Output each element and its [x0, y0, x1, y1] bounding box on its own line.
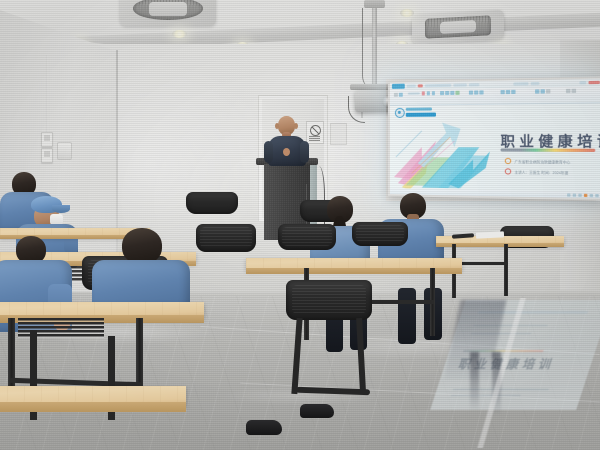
cap-brim	[52, 205, 70, 213]
desk-leg	[504, 244, 508, 296]
bullets-icon[interactable]	[450, 91, 454, 95]
reading-view-icon[interactable]	[578, 193, 581, 196]
tab-review[interactable]	[469, 83, 479, 86]
chair-mesh	[292, 285, 366, 314]
ribbon-group-cloud[interactable]	[535, 89, 550, 93]
chair-mesh	[356, 225, 404, 242]
no-smoking-sign	[306, 121, 324, 144]
sorter-view-icon[interactable]	[573, 193, 576, 196]
cloud-save-icon[interactable]	[535, 89, 539, 93]
projector-cable	[362, 8, 379, 90]
attendee-head	[122, 228, 162, 264]
wall-conduit	[46, 55, 48, 133]
chair-back-far-right	[352, 222, 408, 246]
tab-view[interactable]	[513, 82, 528, 85]
ribbon-group-right[interactable]	[566, 89, 576, 93]
tab-design[interactable]	[425, 84, 451, 88]
shoe	[246, 420, 282, 435]
ribbon-group-shapes[interactable]	[469, 90, 483, 94]
bullet-dot-icon	[505, 168, 511, 174]
projected-slide: 职业健康培训 广东省职业病防治院健康教育中心 主讲人：王医生 时间：2024年度	[390, 79, 600, 199]
cut-icon[interactable]	[399, 93, 402, 97]
chair-backrest	[186, 192, 238, 214]
chair-mesh	[282, 227, 332, 246]
slide-subtitle-line-2: 主讲人：王医生 时间：2024年度	[505, 168, 569, 175]
replace-icon[interactable]	[506, 90, 510, 94]
paste-icon[interactable]	[394, 93, 397, 97]
arrow-chart-svg	[392, 116, 498, 191]
bold-icon[interactable]	[426, 91, 430, 95]
normal-view-icon[interactable]	[567, 193, 570, 196]
desk-front-left	[0, 302, 204, 318]
bullet-dot-icon	[505, 158, 511, 164]
ribbon-group-clipboard[interactable]	[394, 93, 402, 97]
presenter-ear	[275, 123, 279, 129]
chair-back-right	[278, 224, 336, 250]
downlight	[172, 30, 187, 38]
downlight	[400, 9, 414, 17]
zoom-in-icon[interactable]	[595, 193, 598, 196]
align-left-icon[interactable]	[440, 91, 444, 95]
slide-arrow-graphic	[392, 116, 498, 191]
cassette-ac-right	[412, 10, 504, 45]
numbering-icon[interactable]	[455, 91, 459, 95]
arrange-icon[interactable]	[474, 90, 478, 94]
ac-inner-panel	[149, 2, 187, 16]
training-room-photo: 职业健康培训 广东省职业病防治院健康教育中心 主讲人：王医生 时间：2024年度	[0, 0, 600, 450]
desk-nearest	[0, 386, 186, 406]
font-name-box[interactable]	[408, 92, 420, 94]
tab-tools[interactable]	[531, 82, 540, 85]
slide-title-divider	[501, 148, 596, 151]
shape-icon[interactable]	[469, 91, 473, 95]
chair-backrest	[278, 224, 336, 250]
notice-plate	[330, 123, 347, 145]
ribbon-group-font[interactable]	[408, 91, 435, 95]
presenter-arm-right	[300, 141, 309, 163]
italic-icon[interactable]	[431, 91, 435, 95]
shoe	[300, 404, 334, 418]
tab-badge	[418, 84, 423, 87]
font-color-icon[interactable]	[421, 91, 425, 95]
projector-ceiling-plate	[364, 0, 385, 8]
light-switch-panel[interactable]	[41, 148, 53, 163]
presenter-hand	[283, 148, 290, 156]
desk-edge	[0, 402, 186, 412]
light-switch-panel[interactable]	[41, 132, 53, 147]
help-icon[interactable]	[572, 89, 576, 93]
tab-insert[interactable]	[407, 84, 416, 87]
attendee-right-leg	[398, 288, 416, 344]
slide-logo-text-upper	[406, 107, 432, 110]
find-icon[interactable]	[501, 90, 505, 94]
reflected-leg	[470, 352, 479, 410]
chair-backrest	[352, 222, 408, 246]
projection-screen: 职业健康培训 广东省职业病防治院健康教育中心 主讲人：王医生 时间：2024年度	[388, 76, 600, 200]
share-icon[interactable]	[541, 89, 545, 93]
slideshow-icon[interactable]	[584, 193, 587, 196]
reflected-leg	[492, 352, 501, 414]
presenter	[264, 116, 308, 164]
slide-subtitle-line-1: 广东省职业病防治院健康教育中心	[505, 158, 571, 165]
reflected-ui-line	[451, 395, 521, 396]
ribbon-group-editing[interactable]	[501, 90, 515, 94]
presenter-ear	[294, 123, 298, 129]
minimize-icon[interactable]	[579, 81, 586, 84]
quickstyle-icon[interactable]	[479, 90, 483, 94]
cassette-ac-left	[120, 0, 216, 26]
close-icon[interactable]	[588, 81, 599, 84]
wall-mounted-dispenser	[57, 142, 72, 160]
presenter-arm-left	[264, 141, 273, 163]
chair-mesh	[200, 227, 252, 247]
chair-far-left	[186, 192, 238, 214]
chair-backrest	[286, 280, 372, 320]
chair-front-right	[286, 280, 372, 320]
tab-animation[interactable]	[453, 83, 466, 86]
tab-start[interactable]	[392, 84, 405, 89]
ribbon-group-paragraph[interactable]	[440, 91, 459, 95]
chair-back-centre	[196, 224, 256, 252]
more-icon[interactable]	[546, 89, 550, 93]
ac-inner-panel	[440, 20, 477, 34]
align-center-icon[interactable]	[445, 91, 449, 95]
chair-backrest	[196, 224, 256, 252]
zoom-out-icon[interactable]	[590, 193, 593, 196]
select-icon[interactable]	[511, 90, 515, 94]
collapse-ribbon-icon[interactable]	[566, 89, 570, 93]
